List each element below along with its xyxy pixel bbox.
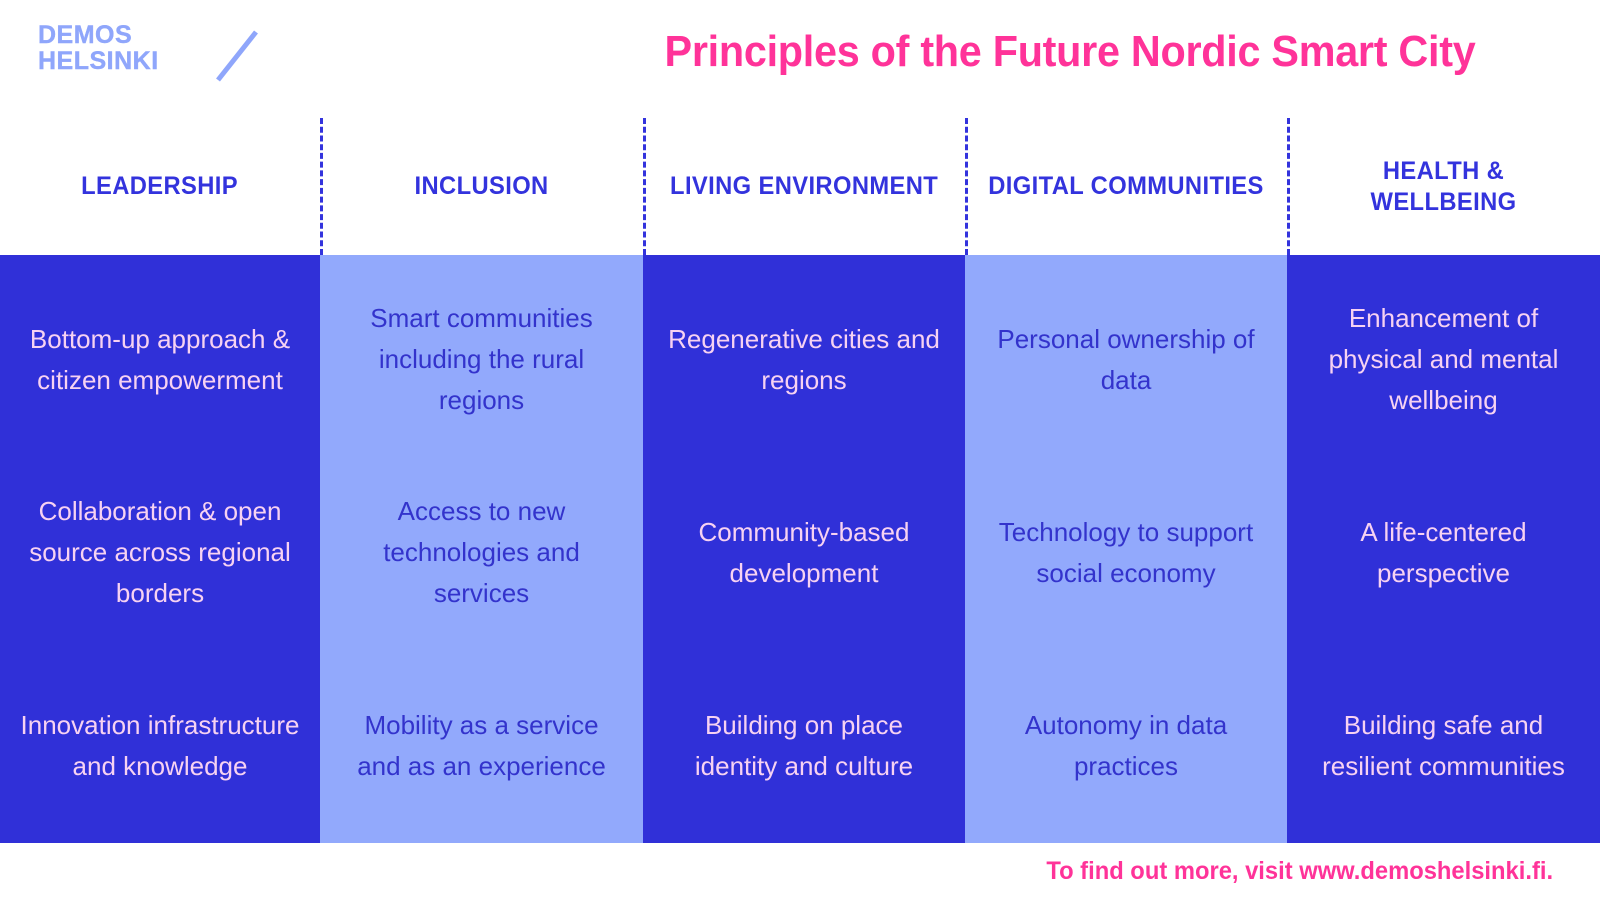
column-header-health-wellbeing: HEALTH & WELLBEING [1287, 118, 1600, 255]
column-body-living-environment: Regenerative cities and regions Communit… [643, 255, 965, 843]
page-title: Principles of the Future Nordic Smart Ci… [591, 26, 1550, 78]
column-header-living-environment: LIVING ENVIRONMENT [643, 118, 965, 255]
principle-cell: Innovation infrastructure and knowledge [0, 650, 320, 843]
principle-cell: Community-based development [643, 456, 965, 649]
footer-website-link[interactable]: To find out more, visit www.demoshelsink… [1046, 857, 1553, 886]
principle-cell: Building safe and resilient communities [1287, 650, 1600, 843]
column-body-digital-communities: Personal ownership of data Technology to… [965, 255, 1287, 843]
principle-cell: Regenerative cities and regions [643, 263, 965, 456]
column-body-leadership: Bottom-up approach & citizen empowerment… [0, 255, 320, 843]
column-heading-label: INCLUSION [414, 171, 548, 202]
column-header-leadership: LEADERSHIP [0, 118, 320, 255]
principle-cell: Enhancement of physical and mental wellb… [1287, 263, 1600, 456]
principle-cell: Autonomy in data practices [965, 650, 1287, 843]
column-header-digital-communities: DIGITAL COMMUNITIES [965, 118, 1287, 255]
principle-cell: Collaboration & open source across regio… [0, 456, 320, 649]
principle-cell: Mobility as a service and as an experien… [320, 650, 643, 843]
column-heading-label: DIGITAL COMMUNITIES [988, 171, 1264, 202]
top-header-bar: DEMOS HELSINKI Principles of the Future … [0, 0, 1600, 118]
principle-cell: A life-centered perspective [1287, 456, 1600, 649]
column-inclusion: INCLUSION Smart communities including th… [320, 118, 643, 843]
column-body-inclusion: Smart communities including the rural re… [320, 255, 643, 843]
column-health-wellbeing: HEALTH & WELLBEING Enhancement of physic… [1287, 118, 1600, 843]
principles-grid: LEADERSHIP Bottom-up approach & citizen … [0, 118, 1600, 843]
column-heading-label: HEALTH & WELLBEING [1308, 156, 1579, 218]
column-leadership: LEADERSHIP Bottom-up approach & citizen … [0, 118, 320, 843]
column-living-environment: LIVING ENVIRONMENT Regenerative cities a… [643, 118, 965, 843]
principle-cell: Access to new technologies and services [320, 456, 643, 649]
principle-cell: Smart communities including the rural re… [320, 263, 643, 456]
column-header-inclusion: INCLUSION [320, 118, 643, 255]
logo-wordmark: DEMOS HELSINKI [38, 22, 288, 74]
column-body-health-wellbeing: Enhancement of physical and mental wellb… [1287, 255, 1600, 843]
column-heading-label: LIVING ENVIRONMENT [670, 171, 938, 202]
principle-cell: Bottom-up approach & citizen empowerment [0, 263, 320, 456]
principle-cell: Building on place identity and culture [643, 650, 965, 843]
column-heading-label: LEADERSHIP [82, 171, 239, 202]
demos-helsinki-logo[interactable]: DEMOS HELSINKI [38, 22, 288, 82]
principle-cell: Technology to support social economy [965, 456, 1287, 649]
footer-bar: To find out more, visit www.demoshelsink… [0, 843, 1600, 900]
principle-cell: Personal ownership of data [965, 263, 1287, 456]
column-digital-communities: DIGITAL COMMUNITIES Personal ownership o… [965, 118, 1287, 843]
